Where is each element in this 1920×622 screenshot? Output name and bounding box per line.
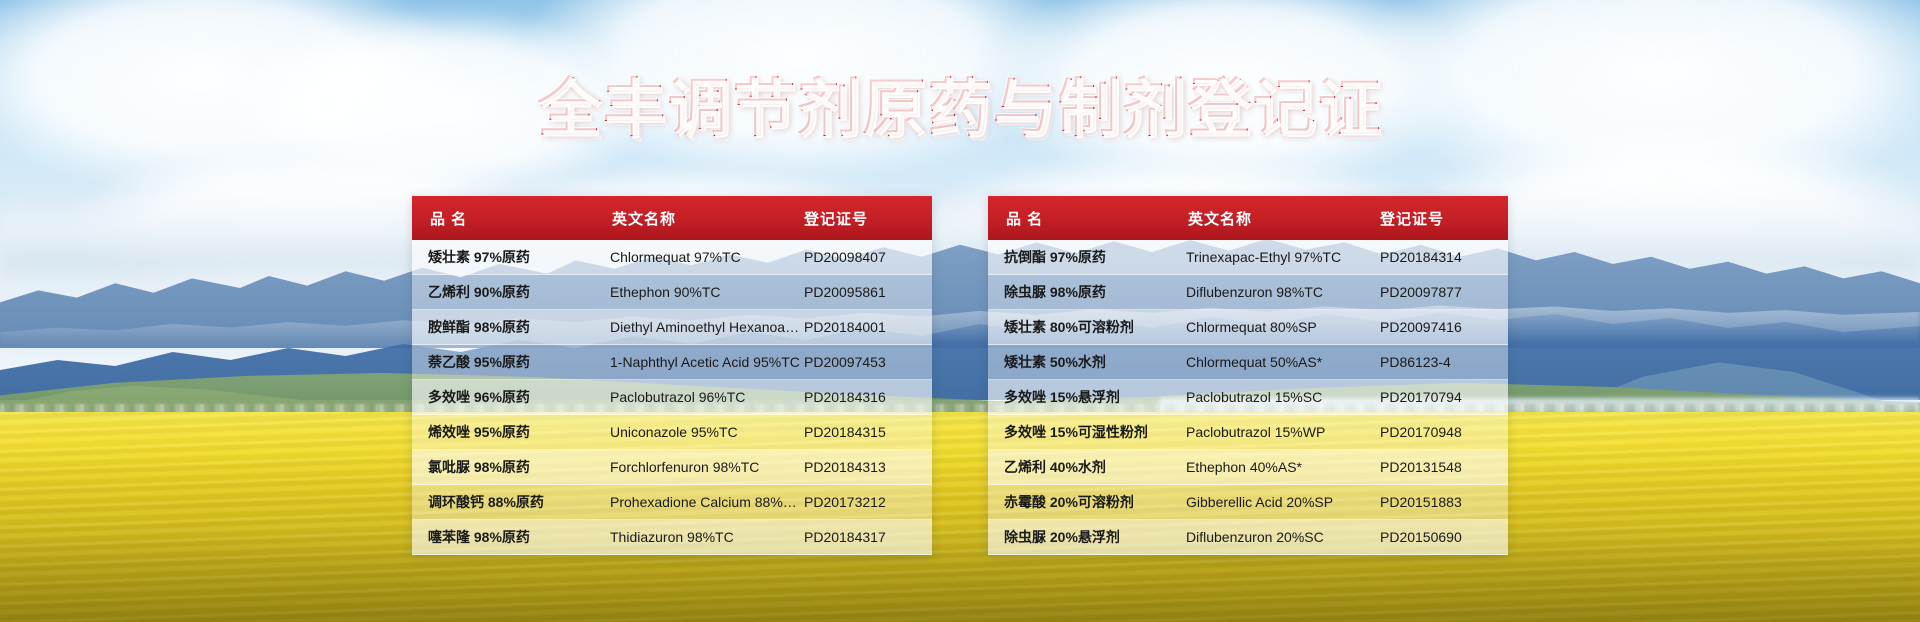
cell-product-name: 除虫脲 98%原药	[988, 282, 1184, 302]
cell-english-name: Gibberellic Acid 20%SP	[1184, 494, 1376, 510]
table-row: 调环酸钙 88%原药 Prohexadione Calcium 88%TC PD…	[412, 485, 932, 520]
table-body: 矮壮素 97%原药 Chlormequat 97%TC PD20098407 乙…	[412, 240, 932, 555]
column-header-english: 英文名称	[1186, 208, 1376, 229]
table-row: 赤霉酸 20%可溶粉剂 Gibberellic Acid 20%SP PD201…	[988, 485, 1508, 520]
table-row: 萘乙酸 95%原药 1-Naphthyl Acetic Acid 95%TC P…	[412, 345, 932, 380]
cell-reg-no: PD20184315	[800, 424, 932, 440]
cell-reg-no: PD20173212	[800, 494, 932, 510]
cell-english-name: Diethyl Aminoethyl Hexanoate 98%TC	[608, 319, 800, 335]
cell-product-name: 抗倒酯 97%原药	[988, 247, 1184, 267]
cell-english-name: Paclobutrazol 15%SC	[1184, 389, 1376, 405]
banner-stage: 全丰调节剂原药与制剂登记证 品 名 英文名称 登记证号 矮壮素 97%原药 Ch…	[0, 0, 1920, 622]
cell-reg-no: PD20131548	[1376, 459, 1508, 475]
cell-reg-no: PD20184001	[800, 319, 932, 335]
table-row: 矮壮素 80%可溶粉剂 Chlormequat 80%SP PD20097416	[988, 310, 1508, 345]
cell-english-name: Chlormequat 50%AS*	[1184, 354, 1376, 370]
cell-product-name: 噻苯隆 98%原药	[412, 527, 608, 547]
cell-english-name: Paclobutrazol 96%TC	[608, 389, 800, 405]
cell-product-name: 矮壮素 80%可溶粉剂	[988, 317, 1184, 337]
cell-product-name: 调环酸钙 88%原药	[412, 492, 608, 512]
table-row: 多效唑 96%原药 Paclobutrazol 96%TC PD20184316	[412, 380, 932, 415]
cell-english-name: Chlormequat 80%SP	[1184, 319, 1376, 335]
table-header-row: 品 名 英文名称 登记证号	[412, 196, 932, 240]
table-row: 噻苯隆 98%原药 Thidiazuron 98%TC PD20184317	[412, 520, 932, 555]
cell-product-name: 多效唑 96%原药	[412, 387, 608, 407]
cell-reg-no: PD20170794	[1376, 389, 1508, 405]
table-body: 抗倒酯 97%原药 Trinexapac-Ethyl 97%TC PD20184…	[988, 240, 1508, 555]
table-row: 乙烯利 40%水剂 Ethephon 40%AS* PD20131548	[988, 450, 1508, 485]
registration-tables: 品 名 英文名称 登记证号 矮壮素 97%原药 Chlormequat 97%T…	[0, 196, 1920, 555]
column-header-name: 品 名	[988, 208, 1186, 229]
cell-english-name: Prohexadione Calcium 88%TC	[608, 494, 800, 510]
cell-reg-no: PD20184316	[800, 389, 932, 405]
cell-product-name: 氯吡脲 98%原药	[412, 457, 608, 477]
column-header-english: 英文名称	[610, 208, 800, 229]
cell-reg-no: PD20097877	[1376, 284, 1508, 300]
cell-english-name: Ethephon 40%AS*	[1184, 459, 1376, 475]
table-row: 矮壮素 97%原药 Chlormequat 97%TC PD20098407	[412, 240, 932, 275]
cell-product-name: 萘乙酸 95%原药	[412, 352, 608, 372]
cell-product-name: 矮壮素 97%原药	[412, 247, 608, 267]
cell-reg-no: PD20095861	[800, 284, 932, 300]
cell-english-name: Uniconazole 95%TC	[608, 424, 800, 440]
cell-reg-no: PD20170948	[1376, 424, 1508, 440]
cell-reg-no: PD20097416	[1376, 319, 1508, 335]
cell-english-name: Diflubenzuron 98%TC	[1184, 284, 1376, 300]
cell-product-name: 烯效唑 95%原药	[412, 422, 608, 442]
table-row: 除虫脲 98%原药 Diflubenzuron 98%TC PD20097877	[988, 275, 1508, 310]
cell-reg-no: PD20150690	[1376, 529, 1508, 545]
cell-product-name: 乙烯利 90%原药	[412, 282, 608, 302]
cell-product-name: 赤霉酸 20%可溶粉剂	[988, 492, 1184, 512]
registration-table-right: 品 名 英文名称 登记证号 抗倒酯 97%原药 Trinexapac-Ethyl…	[988, 196, 1508, 555]
cell-english-name: 1-Naphthyl Acetic Acid 95%TC	[608, 354, 800, 370]
table-row: 多效唑 15%可湿性粉剂 Paclobutrazol 15%WP PD20170…	[988, 415, 1508, 450]
cell-english-name: Thidiazuron 98%TC	[608, 529, 800, 545]
cell-english-name: Forchlorfenuron 98%TC	[608, 459, 800, 475]
table-row: 抗倒酯 97%原药 Trinexapac-Ethyl 97%TC PD20184…	[988, 240, 1508, 275]
cell-product-name: 胺鲜酯 98%原药	[412, 317, 608, 337]
registration-table-left: 品 名 英文名称 登记证号 矮壮素 97%原药 Chlormequat 97%T…	[412, 196, 932, 555]
cell-english-name: Chlormequat 97%TC	[608, 249, 800, 265]
cell-reg-no: PD20098407	[800, 249, 932, 265]
cell-product-name: 多效唑 15%悬浮剂	[988, 387, 1184, 407]
cell-reg-no: PD20097453	[800, 354, 932, 370]
cell-english-name: Paclobutrazol 15%WP	[1184, 424, 1376, 440]
cell-reg-no: PD20184314	[1376, 249, 1508, 265]
cell-english-name: Trinexapac-Ethyl 97%TC	[1184, 249, 1376, 265]
cell-reg-no: PD86123-4	[1376, 354, 1508, 370]
cell-product-name: 乙烯利 40%水剂	[988, 457, 1184, 477]
cell-product-name: 多效唑 15%可湿性粉剂	[988, 422, 1184, 442]
column-header-name: 品 名	[412, 208, 610, 229]
column-header-reg-no: 登记证号	[1376, 208, 1508, 229]
table-row: 除虫脲 20%悬浮剂 Diflubenzuron 20%SC PD2015069…	[988, 520, 1508, 555]
cell-product-name: 矮壮素 50%水剂	[988, 352, 1184, 372]
table-row: 矮壮素 50%水剂 Chlormequat 50%AS* PD86123-4	[988, 345, 1508, 380]
table-row: 烯效唑 95%原药 Uniconazole 95%TC PD20184315	[412, 415, 932, 450]
cell-product-name: 除虫脲 20%悬浮剂	[988, 527, 1184, 547]
table-row: 胺鲜酯 98%原药 Diethyl Aminoethyl Hexanoate 9…	[412, 310, 932, 345]
cell-english-name: Ethephon 90%TC	[608, 284, 800, 300]
column-header-reg-no: 登记证号	[800, 208, 932, 229]
table-row: 氯吡脲 98%原药 Forchlorfenuron 98%TC PD201843…	[412, 450, 932, 485]
table-header-row: 品 名 英文名称 登记证号	[988, 196, 1508, 240]
cell-reg-no: PD20184317	[800, 529, 932, 545]
cell-english-name: Diflubenzuron 20%SC	[1184, 529, 1376, 545]
table-row: 多效唑 15%悬浮剂 Paclobutrazol 15%SC PD2017079…	[988, 380, 1508, 415]
cell-reg-no: PD20184313	[800, 459, 932, 475]
cell-reg-no: PD20151883	[1376, 494, 1508, 510]
table-row: 乙烯利 90%原药 Ethephon 90%TC PD20095861	[412, 275, 932, 310]
